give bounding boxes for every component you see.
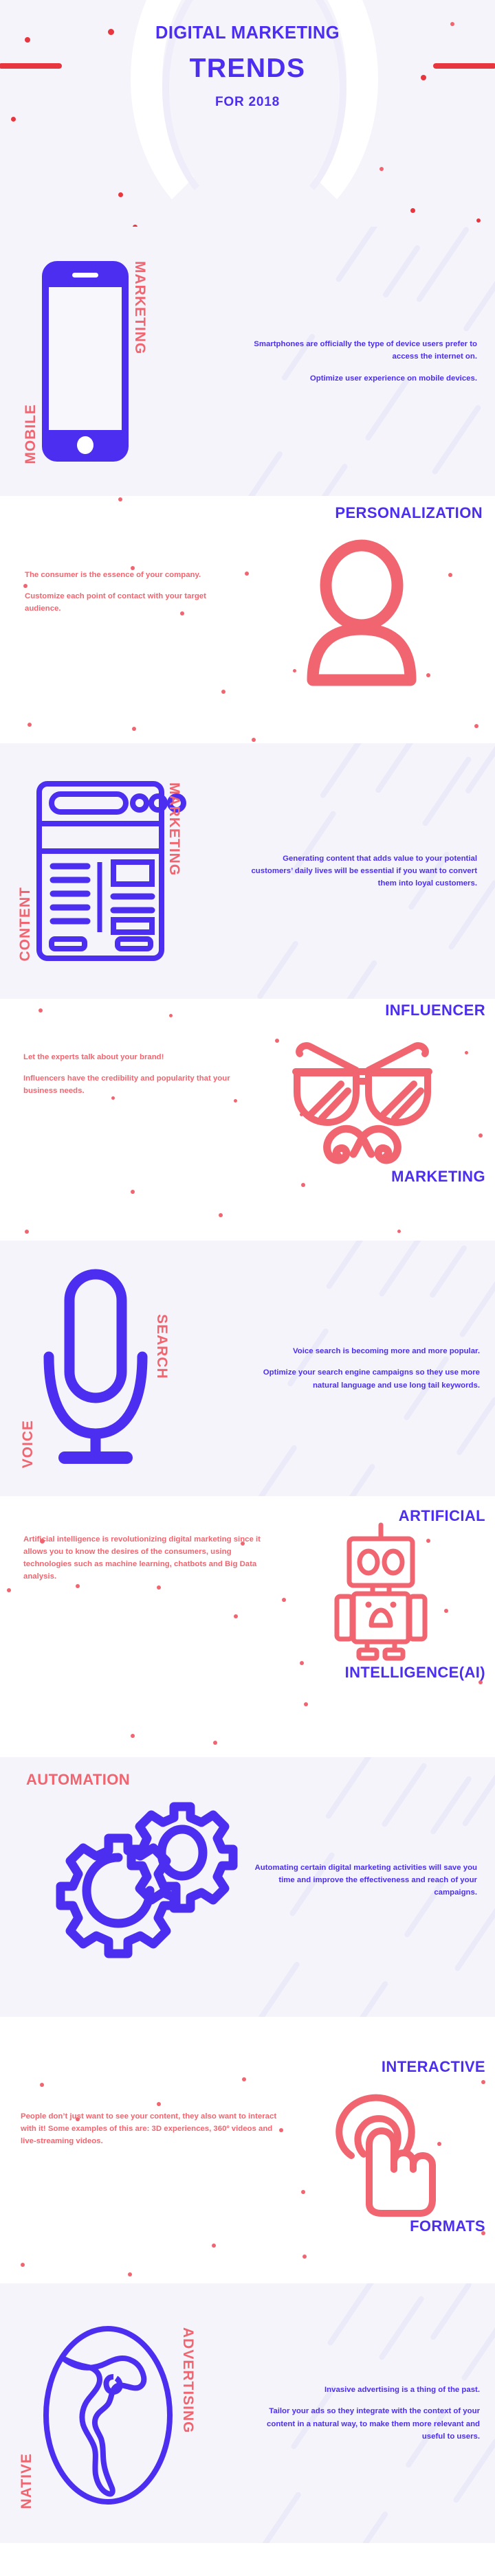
native-word-right: ADVERTISING (181, 2318, 195, 2434)
content-word-right: MARKETING (167, 781, 181, 876)
section-mobile-marketing: MOBILE MARKETING Smartphones are officia… (0, 227, 495, 496)
voice-word-right: SEARCH (155, 1269, 169, 1379)
section-influencer-marketing: INFLUENCER Let the experts talk about yo… (0, 999, 495, 1241)
section-content-marketing: CONTENT (0, 743, 495, 999)
automation-title: AUTOMATION (26, 1772, 495, 1787)
ai-title-top: ARTIFICIAL (0, 1509, 485, 1524)
voice-paragraph-2: Optimize your search engine campaigns so… (242, 1366, 480, 1391)
voice-paragraph-1: Voice search is becoming more and more p… (242, 1345, 480, 1357)
interactive-title-top: INTERACTIVE (0, 2059, 485, 2075)
smartphone-icon (41, 258, 130, 464)
robot-icon (333, 1524, 429, 1661)
section-automation: AUTOMATION Automating certain digit (0, 1757, 495, 2017)
native-paragraph-2: Tailor your ads so they integrate with t… (245, 2405, 480, 2442)
native-paragraph-1: Invasive advertising is a thing of the p… (245, 2384, 480, 2396)
page-title-line2: TRENDS (0, 55, 495, 82)
glasses-moustache-icon (290, 1029, 434, 1166)
mobile-word-left: MOBILE (23, 401, 38, 464)
personalization-paragraph-2: Customize each point of contact with you… (25, 590, 231, 615)
browser-window-icon (36, 781, 164, 961)
section-native-advertising: NATIVE ADVERTISING Invasive advertising … (0, 2283, 495, 2543)
mobile-paragraph-2: Optimize user experience on mobile devic… (234, 372, 477, 385)
mobile-word-right: MARKETING (133, 258, 147, 354)
gears-icon (47, 1794, 219, 1966)
personalization-paragraph-1: The consumer is the essence of your comp… (25, 569, 231, 581)
content-word-left: CONTENT (18, 881, 32, 962)
section-personalization: PERSONALIZATION The consumer is the esse… (0, 496, 495, 743)
ai-title-bottom: INTELLIGENCE(AI) (0, 1665, 485, 1680)
page-title-line1: DIGITAL MARKETING (0, 25, 495, 43)
influencer-paragraph-1: Let the experts talk about your brand! (23, 1051, 236, 1063)
influencer-title-top: INFLUENCER (0, 1003, 485, 1018)
globe-icon (41, 2318, 175, 2509)
section-interactive-formats: INTERACTIVE People don’t just want to se… (0, 2017, 495, 2283)
content-paragraph-1: Generating content that adds value to yo… (242, 852, 477, 890)
mobile-paragraph-1: Smartphones are officially the type of d… (234, 338, 477, 363)
page-title-line3: FOR 2018 (0, 95, 495, 109)
influencer-paragraph-2: Influencers have the credibility and pop… (23, 1072, 236, 1097)
header-title-block: DIGITAL MARKETING TRENDS FOR 2018 (0, 25, 495, 109)
influencer-title-bottom: MARKETING (0, 1169, 485, 1184)
user-avatar-icon (303, 544, 420, 688)
automation-paragraph-1: Automating certain digital marketing act… (253, 1862, 477, 1899)
interactive-paragraph-1: People don’t just want to see your conte… (21, 2110, 282, 2147)
section-artificial-intelligence: ARTIFICIAL Artificial intelligence is re… (0, 1496, 495, 1757)
header-section: DIGITAL MARKETING TRENDS FOR 2018 (0, 0, 495, 227)
interactive-title-bottom: FORMATS (0, 2219, 485, 2234)
microphone-icon (41, 1269, 151, 1468)
tap-hand-icon (327, 2081, 437, 2216)
personalization-title: PERSONALIZATION (0, 506, 483, 521)
infographic-page: DIGITAL MARKETING TRENDS FOR 2018 MOBILE (0, 0, 495, 2576)
native-word-left: NATIVE (19, 2446, 34, 2509)
section-voice-search: VOICE SEARCH Voice search is becoming mo… (0, 1241, 495, 1496)
ai-paragraph-1: Artificial intelligence is revolutionizi… (23, 1533, 278, 1583)
voice-word-left: VOICE (21, 1416, 35, 1468)
